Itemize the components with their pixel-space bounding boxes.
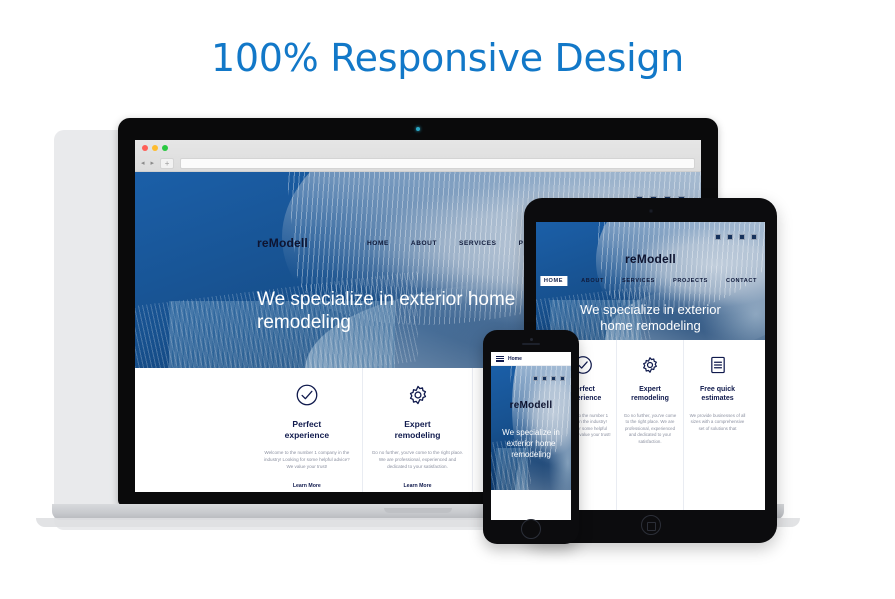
- mobile-nav-label: Home: [508, 356, 522, 362]
- mail-icon[interactable]: [751, 234, 757, 240]
- phone-screen: Home reModell We speciali: [491, 352, 571, 520]
- site-logo[interactable]: reModell: [257, 236, 308, 250]
- hero-section: reModell We specialize in exterior home …: [491, 366, 571, 490]
- feature-card-text: Welcome to the number 1 company in the i…: [261, 450, 353, 471]
- browser-toolbar: ◂ ▸ +: [135, 155, 701, 171]
- address-bar[interactable]: [180, 158, 695, 169]
- document-lines-icon: [707, 354, 729, 376]
- phone-home-button[interactable]: [521, 519, 541, 539]
- feature-card[interactable]: Expert remodeling Go no further, you've …: [617, 340, 684, 510]
- site-logo[interactable]: reModell: [491, 400, 571, 411]
- feature-title-line1: Free quick: [700, 386, 735, 393]
- minimize-icon[interactable]: [152, 145, 158, 151]
- forward-icon[interactable]: ▸: [151, 159, 155, 167]
- gear-icon: [405, 382, 431, 408]
- nav-item-about[interactable]: ABOUT: [411, 240, 437, 247]
- hamburger-icon[interactable]: [496, 356, 504, 362]
- feature-card-text: Go no further, you've come to the right …: [622, 413, 678, 446]
- close-icon[interactable]: [142, 145, 148, 151]
- feature-title-line1: Expert: [404, 419, 430, 429]
- phone-mockup: Home reModell We speciali: [483, 330, 579, 544]
- mail-icon[interactable]: [560, 376, 565, 381]
- learn-more-link[interactable]: Learn More: [404, 483, 432, 489]
- feature-card-text: We provide businesses of all sizes with …: [689, 413, 746, 433]
- feature-card[interactable]: Free quick estimates We provide business…: [684, 340, 751, 510]
- feature-card-title: Expert remodeling: [631, 386, 669, 404]
- feature-title-line1: Expert: [639, 386, 661, 393]
- nav-item-services[interactable]: SERVICES: [459, 240, 497, 247]
- back-icon[interactable]: ◂: [141, 159, 145, 167]
- laptop-camera-icon: [416, 127, 420, 131]
- nav-item-home[interactable]: HOME: [540, 276, 567, 286]
- maximize-icon[interactable]: [162, 145, 168, 151]
- social-links: [715, 234, 757, 240]
- phone-site-content: reModell We specialize in exterior home …: [491, 366, 571, 520]
- browser-titlebar: [135, 140, 701, 155]
- nav-item-about[interactable]: ABOUT: [577, 276, 608, 286]
- hero-headline-line1: We specialize in exterior: [580, 302, 721, 317]
- tablet-camera-icon: [649, 209, 653, 213]
- feature-card[interactable]: Expert remodeling Go no further, you've …: [363, 368, 474, 492]
- learn-more-link[interactable]: Learn More: [293, 483, 321, 489]
- feature-title-line2: estimates: [701, 395, 733, 402]
- tablet-home-button[interactable]: [641, 515, 661, 535]
- main-navigation: HOME ABOUT SERVICES PROJECTS CONTACT: [540, 276, 761, 286]
- feature-card[interactable]: Perfect experience Welcome to the number…: [252, 368, 363, 492]
- rss-icon[interactable]: [739, 234, 745, 240]
- feature-title-line1: Perfect: [292, 419, 321, 429]
- hero-headline-line2: home remodeling: [600, 318, 700, 333]
- phone-camera-icon: [530, 338, 533, 341]
- social-links: [533, 376, 565, 381]
- hero-headline: We specialize in exterior home remodelin…: [491, 428, 571, 460]
- hero-section: reModell HOME ABOUT SERVICES PROJECTS CO…: [536, 222, 765, 340]
- phone-speaker: [522, 343, 540, 345]
- feature-card-title: Perfect experience: [285, 419, 329, 440]
- nav-item-projects[interactable]: PROJECTS: [669, 276, 712, 286]
- gear-icon: [639, 354, 661, 376]
- responsive-design-showcase: 100% Responsive Design ◂ ▸ +: [0, 0, 895, 599]
- feature-card-text: Go no further, you've come to the right …: [372, 450, 464, 471]
- mobile-navbar[interactable]: Home: [491, 352, 571, 366]
- facebook-icon[interactable]: [542, 376, 547, 381]
- check-circle-icon: [294, 382, 320, 408]
- phone-content-spacer: [491, 490, 571, 520]
- feature-card-title: Free quick estimates: [700, 386, 735, 404]
- feature-title-line2: experience: [285, 430, 329, 440]
- twitter-icon[interactable]: [715, 234, 721, 240]
- browser-chrome: ◂ ▸ +: [135, 140, 701, 172]
- new-tab-icon[interactable]: +: [160, 158, 174, 169]
- nav-item-contact[interactable]: CONTACT: [722, 276, 761, 286]
- hero-headline: We specialize in exterior home remodelin…: [536, 302, 765, 334]
- rss-icon[interactable]: [551, 376, 556, 381]
- feature-title-line2: remodeling: [631, 395, 669, 402]
- feature-card-title: Expert remodeling: [395, 419, 441, 440]
- nav-item-home[interactable]: HOME: [367, 240, 389, 247]
- page-title: 100% Responsive Design: [0, 36, 895, 80]
- laptop-notch: [384, 508, 452, 513]
- nav-item-services[interactable]: SERVICES: [618, 276, 659, 286]
- feature-title-line2: remodeling: [395, 430, 441, 440]
- twitter-icon[interactable]: [533, 376, 538, 381]
- facebook-icon[interactable]: [727, 234, 733, 240]
- site-logo[interactable]: reModell: [625, 252, 676, 266]
